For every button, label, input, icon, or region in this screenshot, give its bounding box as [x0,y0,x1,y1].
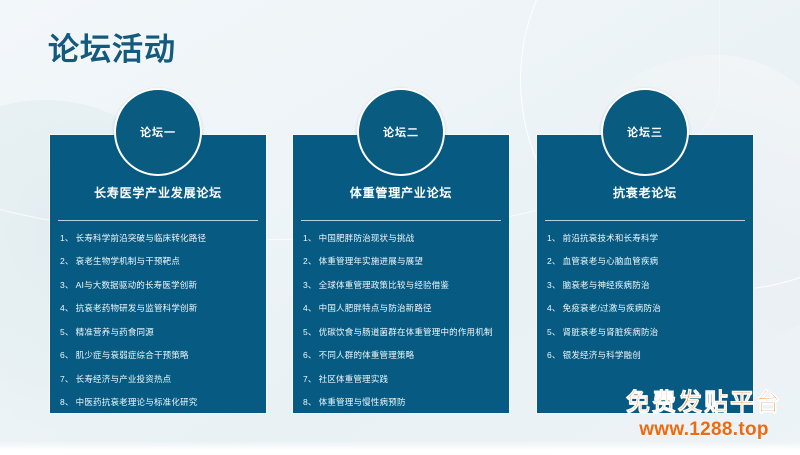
list-item-number: 1、 [303,233,317,244]
list-item-label: 银发经济与科学融创 [563,350,743,361]
list-item-number: 3、 [60,280,74,291]
list-item-number: 2、 [60,256,74,267]
list-item-number: 6、 [303,350,317,361]
list-item-number: 4、 [547,303,561,314]
list-item-label: 免疫衰老/过激与疾病防治 [563,303,743,314]
list-item-number: 1、 [60,233,74,244]
list-item[interactable]: 3、 AI与大数据驱动的长寿医学创新 [60,280,256,291]
forum-card-3[interactable]: 抗衰老论坛 1、 前沿抗衰技术和长寿科学 2、 血管衰老与心脑血管疾病 3、 脑… [537,135,753,413]
watermark-url: www.1288.top [626,420,782,439]
list-item-number: 5、 [547,327,561,338]
forum-badge-3[interactable]: 论坛三 [601,88,689,176]
list-item[interactable]: 7、 长寿经济与产业投资热点 [60,374,256,385]
list-item-label: 前沿抗衰技术和长寿科学 [563,233,743,244]
list-item-number: 8、 [303,397,317,408]
forum-badge-2[interactable]: 论坛二 [357,88,445,176]
list-item-number: 5、 [60,327,74,338]
list-item-label: 抗衰老药物研发与监管科学创新 [76,303,256,314]
list-item-number: 3、 [303,280,317,291]
list-item-number: 4、 [303,303,317,314]
list-item-label: 中国肥胖防治现状与挑战 [319,233,499,244]
list-item-number: 2、 [303,256,317,267]
list-item-number: 4、 [60,303,74,314]
list-item[interactable]: 4、 抗衰老药物研发与监管科学创新 [60,303,256,314]
list-item-label: 肌少症与衰弱症综合干预策略 [76,350,256,361]
list-item[interactable]: 5、 优碳饮食与肠道菌群在体重管理中的作用机制 [303,327,499,338]
list-item[interactable]: 1、 中国肥胖防治现状与挑战 [303,233,499,244]
list-item-label: 长寿经济与产业投资热点 [76,374,256,385]
card-2-title: 体重管理产业论坛 [350,184,452,201]
forum-badge-1[interactable]: 论坛一 [114,88,202,176]
list-item-number: 2、 [547,256,561,267]
list-item-label: 脑衰老与神经疾病防治 [563,280,743,291]
watermark: 免费发贴平台 www.1288.top [626,391,782,439]
forum-badge-3-label: 论坛三 [627,124,663,140]
list-item[interactable]: 2、 血管衰老与心脑血管疾病 [547,256,743,267]
forum-card-1[interactable]: 长寿医学产业发展论坛 1、 长寿科学前沿突破与临床转化路径 2、 衰老生物学机制… [50,135,266,413]
list-item[interactable]: 8、 中医药抗衰老理论与标准化研究 [60,397,256,408]
list-item[interactable]: 5、 肾脏衰老与肾脏疾病防治 [547,327,743,338]
list-item[interactable]: 8、 体重管理与慢性病预防 [303,397,499,408]
card-2-topic-list: 1、 中国肥胖防治现状与挑战 2、 体重管理年实施进展与展望 3、 全球体重管理… [293,221,509,409]
list-item[interactable]: 2、 衰老生物学机制与干预靶点 [60,256,256,267]
card-1-topic-list: 1、 长寿科学前沿突破与临床转化路径 2、 衰老生物学机制与干预靶点 3、 AI… [50,221,266,409]
card-1-title: 长寿医学产业发展论坛 [94,184,222,201]
list-item-label: 中医药抗衰老理论与标准化研究 [76,397,256,408]
list-item-label: 肾脏衰老与肾脏疾病防治 [563,327,743,338]
list-item-label: 衰老生物学机制与干预靶点 [76,256,256,267]
list-item[interactable]: 7、 社区体重管理实践 [303,374,499,385]
list-item-number: 5、 [303,327,317,338]
list-item-label: 不同人群的体重管理策略 [319,350,499,361]
list-item-number: 6、 [60,350,74,361]
list-item[interactable]: 6、 不同人群的体重管理策略 [303,350,499,361]
list-item[interactable]: 1、 前沿抗衰技术和长寿科学 [547,233,743,244]
list-item-label: 体重管理年实施进展与展望 [319,256,499,267]
list-item-label: 全球体重管理政策比较与经验借鉴 [319,280,499,291]
forum-badge-1-label: 论坛一 [140,124,176,140]
card-3-title: 抗衰老论坛 [613,184,677,201]
list-item-number: 3、 [547,280,561,291]
list-item-number: 7、 [60,374,74,385]
list-item[interactable]: 3、 脑衰老与神经疾病防治 [547,280,743,291]
list-item[interactable]: 2、 体重管理年实施进展与展望 [303,256,499,267]
list-item[interactable]: 6、 肌少症与衰弱症综合干预策略 [60,350,256,361]
list-item-label: 精准营养与药食同源 [76,327,256,338]
list-item-label: 体重管理与慢性病预防 [319,397,499,408]
list-item[interactable]: 1、 长寿科学前沿突破与临床转化路径 [60,233,256,244]
list-item[interactable]: 5、 精准营养与药食同源 [60,327,256,338]
card-3-topic-list: 1、 前沿抗衰技术和长寿科学 2、 血管衰老与心脑血管疾病 3、 脑衰老与神经疾… [537,221,753,362]
list-item-label: 长寿科学前沿突破与临床转化路径 [76,233,256,244]
list-item-label: 中国人肥胖特点与防治新路径 [319,303,499,314]
list-item-number: 1、 [547,233,561,244]
list-item-label: 血管衰老与心脑血管疾病 [563,256,743,267]
list-item-number: 6、 [547,350,561,361]
list-item[interactable]: 4、 免疫衰老/过激与疾病防治 [547,303,743,314]
watermark-brand: 免费发贴平台 [626,391,782,415]
list-item-number: 7、 [303,374,317,385]
list-item-label: 社区体重管理实践 [319,374,499,385]
forum-cards-group: 长寿医学产业发展论坛 1、 长寿科学前沿突破与临床转化路径 2、 衰老生物学机制… [0,0,800,455]
list-item[interactable]: 4、 中国人肥胖特点与防治新路径 [303,303,499,314]
list-item-label: 优碳饮食与肠道菌群在体重管理中的作用机制 [319,327,499,338]
slide-canvas: 论坛活动 长寿医学产业发展论坛 1、 长寿科学前沿突破与临床转化路径 2、 衰老… [0,0,800,455]
list-item[interactable]: 3、 全球体重管理政策比较与经验借鉴 [303,280,499,291]
forum-card-2[interactable]: 体重管理产业论坛 1、 中国肥胖防治现状与挑战 2、 体重管理年实施进展与展望 … [293,135,509,413]
list-item-label: AI与大数据驱动的长寿医学创新 [76,280,256,291]
list-item[interactable]: 6、 银发经济与科学融创 [547,350,743,361]
list-item-number: 8、 [60,397,74,408]
forum-badge-2-label: 论坛二 [383,124,419,140]
